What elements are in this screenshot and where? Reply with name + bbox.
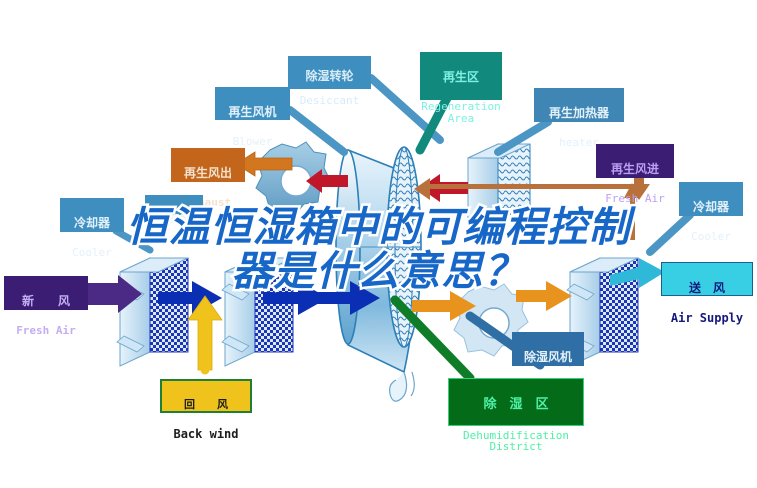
- arrow-regen-red-right: [420, 174, 468, 202]
- page-title-line-1: 恒温恒湿箱中的可编程控制: [0, 205, 757, 249]
- label-back-wind-cn: 回 风: [162, 399, 250, 411]
- label-back-wind: 回 风 Back wind: [160, 379, 252, 413]
- label-dehumidification-district-cn: 除 湿 区: [449, 398, 583, 412]
- label-regeneration-area: 再生区 Regeneration Area: [420, 52, 502, 100]
- label-regeneration-heater-cn: 再生加热器: [534, 107, 624, 120]
- label-dehumidify-blower: 除湿风机 Blower: [512, 332, 584, 366]
- arrow-back-wind-gold: [188, 296, 222, 370]
- label-desiccant-wheel: 除湿转轮 Desiccant: [288, 56, 371, 89]
- label-dehumidification-district-en: Dehumidification District: [449, 430, 583, 453]
- label-exhaust: 再生风出 Exhaust: [171, 148, 245, 182]
- svg-text:XT: XT: [366, 319, 383, 334]
- label-dehumidify-blower-cn: 除湿风机: [512, 351, 584, 364]
- label-regeneration-blower-en: Blower: [215, 136, 290, 148]
- label-desiccant-wheel-cn: 除湿转轮: [288, 70, 371, 83]
- label-regeneration-heater: 再生加热器 heater: [534, 88, 624, 122]
- label-dehumidification-district: 除 湿 区 Dehumidification District: [448, 378, 584, 426]
- label-regeneration-fresh-air-in: 再生风进 Fresh Air: [596, 144, 674, 178]
- label-exhaust-cn: 再生风出: [171, 167, 245, 180]
- label-regeneration-area-cn: 再生区: [420, 71, 502, 84]
- label-regeneration-blower-cn: 再生风机: [215, 106, 290, 119]
- label-fresh-air-in-en: Fresh Air: [4, 325, 88, 337]
- label-regeneration-blower: 再生风机 Blower: [215, 87, 290, 120]
- diagram-canvas: XT: [0, 0, 757, 488]
- label-air-supply-en: Air Supply: [662, 312, 752, 325]
- page-title: 恒温恒湿箱中的可编程控制 器是什么意思？: [0, 205, 757, 294]
- page-title-line-2: 器是什么意思？: [0, 249, 757, 293]
- arrow-regen-red-left: [306, 169, 348, 193]
- label-regeneration-fresh-air-in-cn: 再生风进: [596, 163, 674, 176]
- label-back-wind-en: Back wind: [162, 428, 250, 441]
- label-fresh-air-in-cn: 新 风: [4, 295, 88, 308]
- label-regeneration-area-en: Regeneration Area: [420, 101, 502, 124]
- label-desiccant-wheel-en: Desiccant: [288, 95, 371, 107]
- arrow-orange-1: [412, 291, 476, 321]
